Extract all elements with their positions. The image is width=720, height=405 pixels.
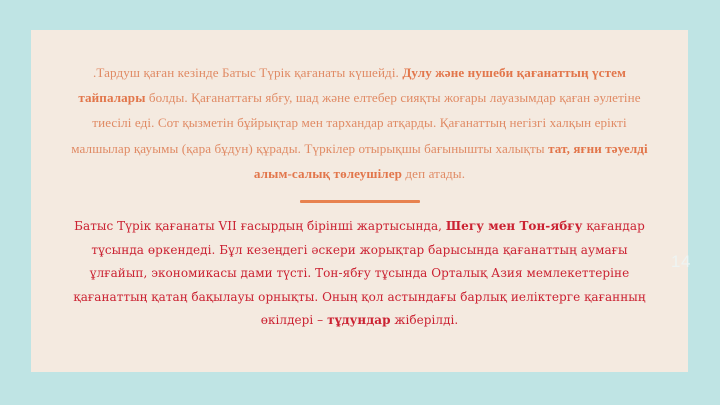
page-number: 14 (671, 252, 691, 272)
divider-container (53, 200, 666, 203)
slide-canvas: .Тардуш қаған кезінде Батыс Түрік қағана… (0, 0, 720, 405)
content-card-inner: .Тардуш қаған кезінде Батыс Түрік қағана… (53, 48, 666, 362)
emphasis-text: тұдундар (327, 313, 390, 327)
body-text: қағандар тұсында өркендеді. Бұл кезеңдег… (73, 219, 645, 327)
paragraph-primary: .Тардуш қаған кезінде Батыс Түрік қағана… (53, 60, 666, 186)
emphasis-text: Шегу мен Тон-ябғу (446, 219, 583, 233)
section-divider (300, 200, 420, 203)
body-text: .Тардуш қаған кезінде Батыс Түрік қағана… (93, 65, 402, 80)
content-card: .Тардуш қаған кезінде Батыс Түрік қағана… (31, 30, 688, 372)
body-text: деп атады. (402, 166, 465, 181)
body-text: жіберілді. (391, 313, 459, 327)
paragraph-secondary: Батыс Түрік қағанаты VII ғасырдың бірінш… (53, 215, 666, 333)
body-text: Батыс Түрік қағанаты VII ғасырдың бірінш… (74, 219, 446, 233)
